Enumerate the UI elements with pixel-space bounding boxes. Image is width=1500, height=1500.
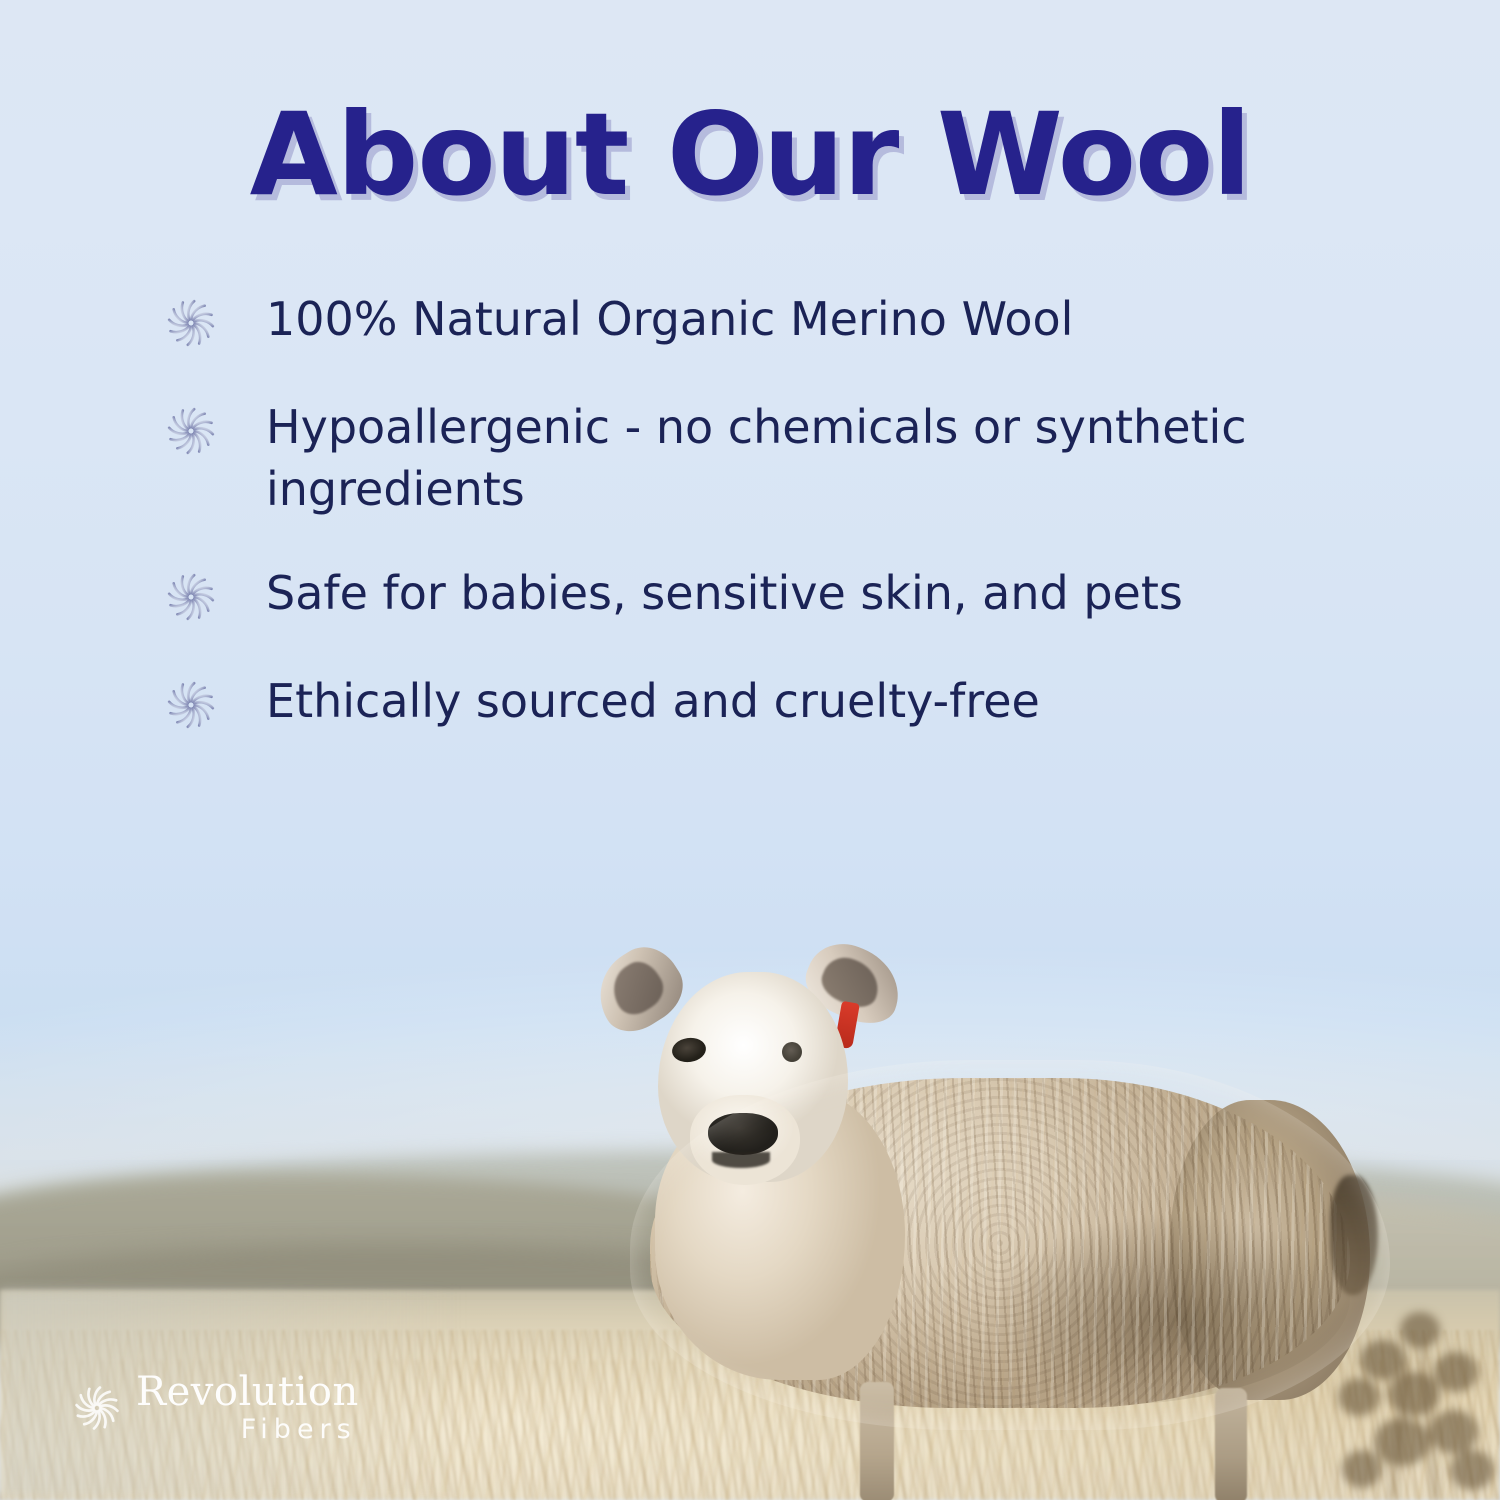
sheep-photo bbox=[560, 930, 1410, 1500]
logo-name-primary: Revolution bbox=[136, 1372, 359, 1412]
fiber-swirl-icon bbox=[160, 566, 222, 628]
about-our-wool-infographic: About Our Wool bbox=[0, 0, 1500, 1500]
sheep-back-leg bbox=[1215, 1388, 1247, 1500]
list-item-label: Hypoallergenic - no chemicals or synthet… bbox=[266, 396, 1326, 520]
fiber-swirl-icon bbox=[160, 400, 222, 462]
fiber-swirl-icon bbox=[68, 1379, 126, 1437]
list-item: Safe for babies, sensitive skin, and pet… bbox=[160, 562, 1350, 628]
sheep-right-eye bbox=[782, 1042, 802, 1062]
sheep-front-leg bbox=[860, 1382, 894, 1500]
page-title: About Our Wool bbox=[0, 88, 1500, 221]
list-item: Ethically sourced and cruelty-free bbox=[160, 670, 1350, 736]
sheep-tail bbox=[1330, 1175, 1378, 1295]
list-item: 100% Natural Organic Merino Wool bbox=[160, 288, 1350, 354]
list-item-label: Ethically sourced and cruelty-free bbox=[266, 670, 1040, 732]
brand-logo: Revolution Fibers bbox=[68, 1372, 359, 1443]
feature-list: 100% Natural Organic Merino Wool bbox=[160, 288, 1350, 778]
list-item-label: 100% Natural Organic Merino Wool bbox=[266, 288, 1073, 350]
sheep-nose bbox=[708, 1113, 778, 1155]
fiber-swirl-icon bbox=[160, 674, 222, 736]
list-item: Hypoallergenic - no chemicals or synthet… bbox=[160, 396, 1350, 520]
fiber-swirl-icon bbox=[160, 292, 222, 354]
list-item-label: Safe for babies, sensitive skin, and pet… bbox=[266, 562, 1183, 624]
sheep-mouth bbox=[712, 1152, 770, 1168]
logo-name-secondary: Fibers bbox=[241, 1416, 357, 1443]
